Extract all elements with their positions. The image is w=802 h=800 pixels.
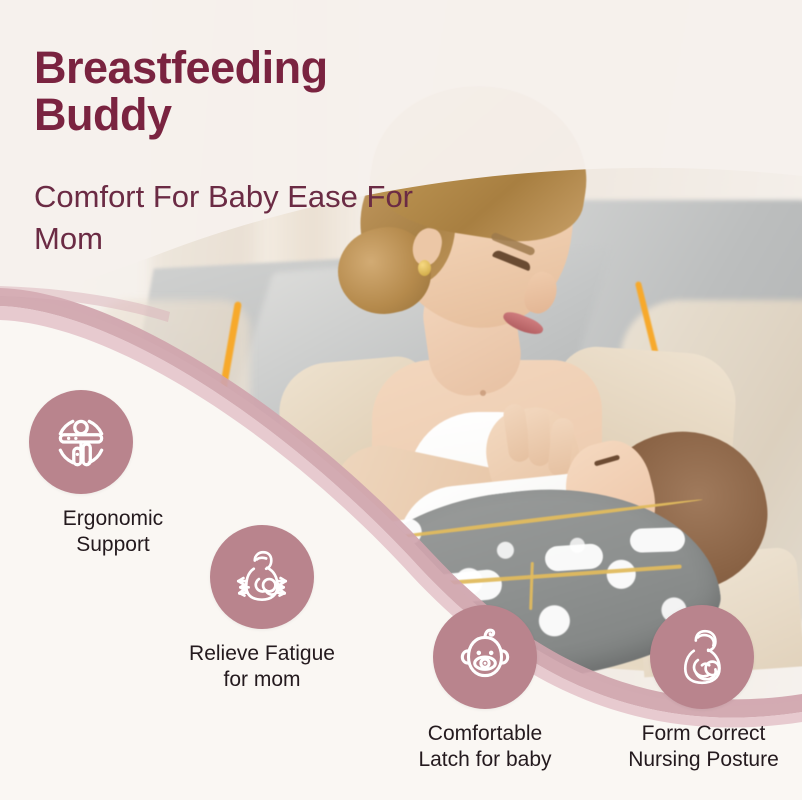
page-title: Breastfeeding Buddy [34,44,464,139]
feature-relieve-fatigue: Relieve Fatigue for mom [160,525,364,694]
feature-comfortable-latch: Comfortable Latch for baby [390,605,580,774]
page-subtitle: Comfort For Baby Ease For Mom [34,176,434,260]
feature-nursing-posture: Form Correct Nursing Posture [605,605,802,774]
pillow-cloud-pattern [544,543,604,572]
feature-badge [650,605,754,709]
feature-badge [210,525,314,629]
baby-face-pacifier-icon [452,624,518,690]
finger [527,408,551,467]
pillow-cloud-pattern [630,527,686,553]
skin-mark [480,390,486,396]
feature-badge [433,605,537,709]
feature-label: Comfortable Latch for baby [390,721,580,774]
feature-badge [29,390,133,494]
product-infographic: Breastfeeding Buddy Comfort For Baby Eas… [0,0,802,800]
ergonomic-figure-icon [48,409,114,475]
feature-label: Form Correct Nursing Posture [605,721,802,774]
nursing-mother-relief-icon [229,544,295,610]
nursing-posture-icon [669,624,735,690]
earring [418,260,431,276]
feature-label: Relieve Fatigue for mom [160,641,364,694]
